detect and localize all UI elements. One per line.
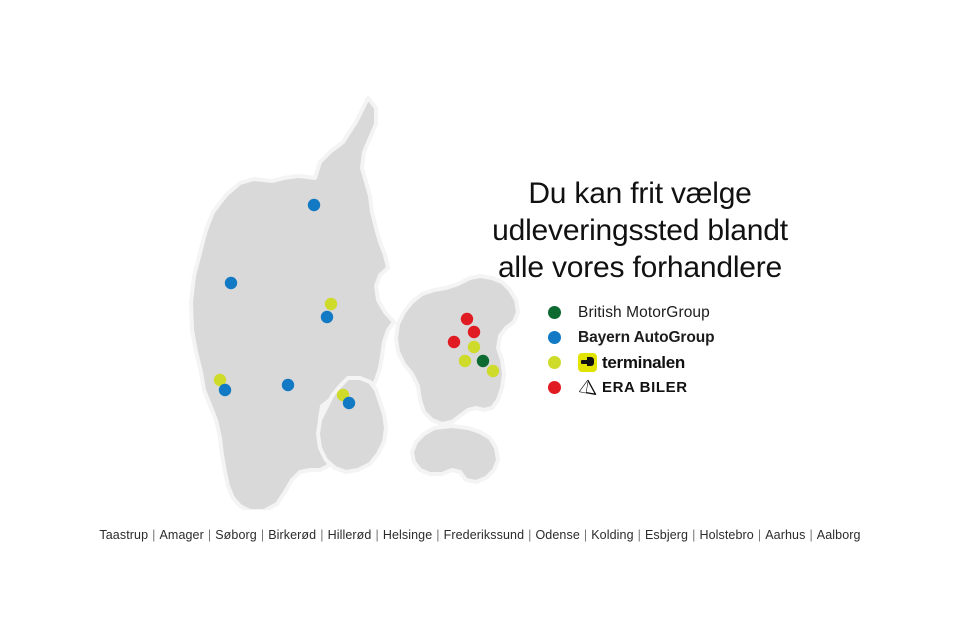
legend-label-era-biler: ERA BILER [602,379,688,396]
headline-line-3: alle vores forhandlere [440,249,840,286]
map-marker-helsinge[interactable] [448,336,460,348]
map-marker-aarhus-blaa[interactable] [321,311,333,323]
city-separator: | [580,528,591,542]
page-title: Du kan frit vælge udleveringssted blandt… [440,175,840,286]
city-item: Amager [160,528,204,542]
era-biler-logo: ERA BILER [578,379,688,396]
city-item: Helsinge [383,528,432,542]
legend-item-british-motorgroup[interactable]: British MotorGroup [548,300,848,325]
city-separator: | [688,528,699,542]
legend-dot-era-biler [548,381,561,394]
map-marker-birkerod[interactable] [468,326,480,338]
city-separator: | [432,528,443,542]
city-separator: | [805,528,816,542]
legend-dot-british-motorgroup [548,306,561,319]
city-item: Aarhus [765,528,805,542]
region-sjaelland [396,276,518,424]
map-marker-aarhus-gul[interactable] [325,298,337,310]
city-separator: | [148,528,159,542]
legend-label-terminalen: terminalen [602,353,685,373]
map-marker-taastrup[interactable] [487,365,499,377]
map-marker-aalborg[interactable] [308,199,320,211]
dealer-legend: British MotorGroup Bayern AutoGroup term… [548,300,848,400]
map-marker-kolding[interactable] [282,379,294,391]
map-landmasses [191,98,518,510]
terminalen-truck-icon [578,353,597,372]
terminalen-logo: terminalen [578,353,685,373]
map-marker-odense-blaa[interactable] [343,397,355,409]
city-list: Taastrup|Amager|Søborg|Birkerød|Hillerød… [0,528,960,542]
headline-line-1: Du kan frit vælge [440,175,840,212]
legend-item-terminalen[interactable]: terminalen [548,350,848,375]
city-separator: | [204,528,215,542]
city-separator: | [634,528,645,542]
map-marker-amager[interactable] [477,355,489,367]
era-triangle-icon [578,379,597,396]
city-item: Aalborg [817,528,861,542]
city-item: Frederikssund [444,528,525,542]
legend-item-bayern-autogroup[interactable]: Bayern AutoGroup [548,325,848,350]
map-marker-frederikssund[interactable] [459,355,471,367]
city-item: Birkerød [268,528,316,542]
city-item: Taastrup [99,528,148,542]
city-separator: | [257,528,268,542]
city-item: Kolding [591,528,633,542]
legend-label-bayern-autogroup: Bayern AutoGroup [578,329,714,347]
city-separator: | [316,528,327,542]
city-separator: | [371,528,382,542]
city-separator: | [524,528,535,542]
dealer-map-infographic: Du kan frit vælge udleveringssted blandt… [0,0,960,640]
legend-dot-terminalen [548,356,561,369]
legend-label-british-motorgroup: British MotorGroup [578,304,710,322]
city-item: Esbjerg [645,528,688,542]
legend-dot-bayern-autogroup [548,331,561,344]
city-item: Hillerød [328,528,372,542]
city-item: Holstebro [699,528,753,542]
region-lolland-falster [412,426,498,482]
map-marker-esbjerg-blaa[interactable] [219,384,231,396]
map-marker-hillerod[interactable] [461,313,473,325]
denmark-map [180,90,525,510]
legend-item-era-biler[interactable]: ERA BILER [548,375,848,400]
city-item: Søborg [215,528,257,542]
map-marker-holstebro[interactable] [225,277,237,289]
city-item: Odense [535,528,579,542]
city-separator: | [754,528,765,542]
headline-line-2: udleveringssted blandt [440,212,840,249]
map-marker-soborg[interactable] [468,341,480,353]
